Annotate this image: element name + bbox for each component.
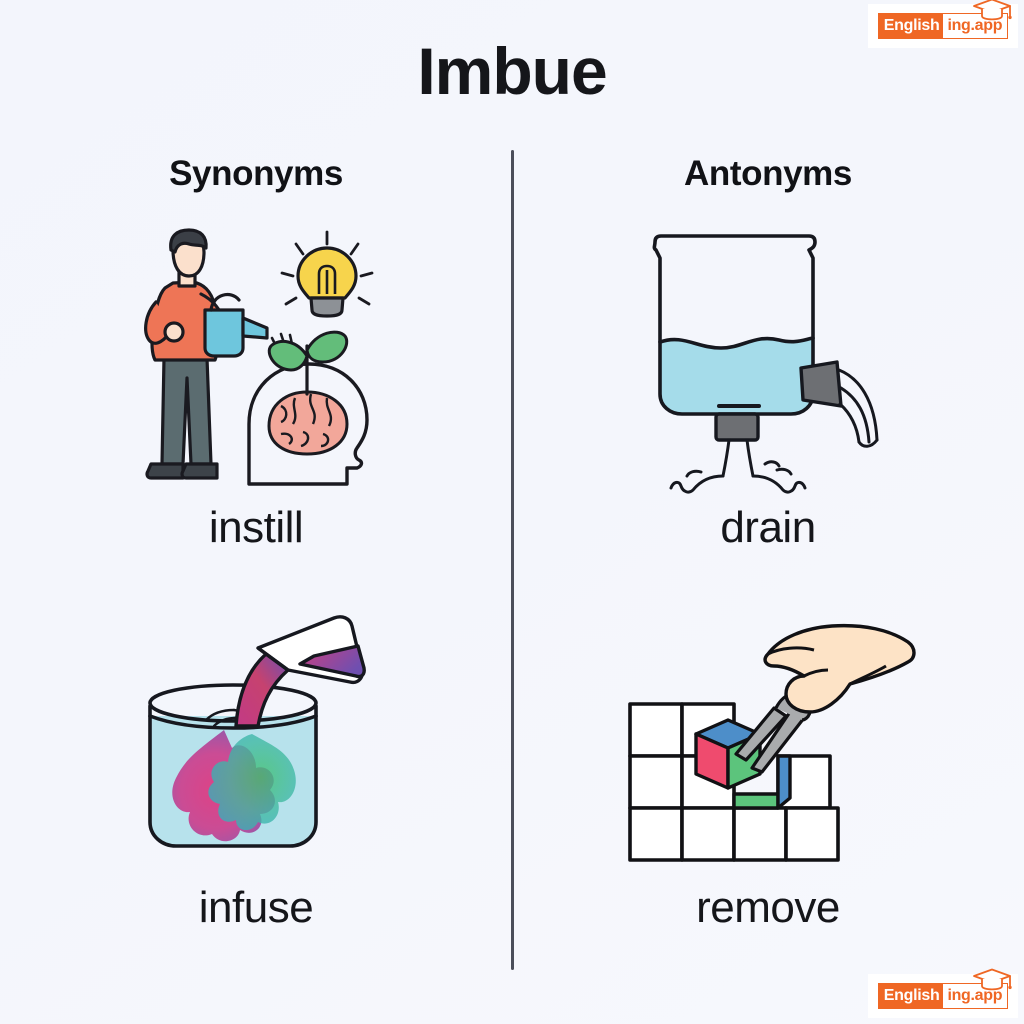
hand-with-tweezers-removing-cube-from-grid-icon xyxy=(618,608,918,880)
column-heading-antonyms: Antonyms xyxy=(568,154,968,194)
graduation-cap-icon xyxy=(971,967,1013,991)
column-divider xyxy=(511,150,514,970)
entry-card-remove[interactable]: remove xyxy=(538,608,998,958)
illustration-remove xyxy=(538,608,998,880)
illustration-instill xyxy=(26,228,486,500)
graduation-cap-icon xyxy=(971,0,1013,21)
word-label-instill: instill xyxy=(209,506,303,550)
entry-card-drain[interactable]: drain xyxy=(538,228,998,578)
entry-card-infuse[interactable]: infuse xyxy=(26,608,486,958)
word-label-drain: drain xyxy=(720,506,815,550)
brand-logo-mark: English ing.app xyxy=(878,13,1008,39)
word-label-infuse: infuse xyxy=(199,886,313,930)
person-watering-brain-plant-with-lightbulb-icon xyxy=(131,228,381,500)
brand-logo-mark: English ing.app xyxy=(878,983,1008,1009)
illustration-drain xyxy=(538,228,998,500)
beaker-with-dye-being-poured-icon xyxy=(128,608,384,880)
entry-card-instill[interactable]: instill xyxy=(26,228,486,578)
illustration-infuse xyxy=(26,608,486,880)
beaker-draining-water-icon xyxy=(637,228,899,500)
page-title: Imbue xyxy=(0,38,1024,104)
word-label-remove: remove xyxy=(696,886,840,930)
column-heading-synonyms: Synonyms xyxy=(56,154,456,194)
brand-logo-segment-english: English xyxy=(879,984,944,1008)
brand-logo-segment-english: English xyxy=(879,14,944,38)
brand-logo-bottom[interactable]: English ing.app xyxy=(868,974,1018,1018)
